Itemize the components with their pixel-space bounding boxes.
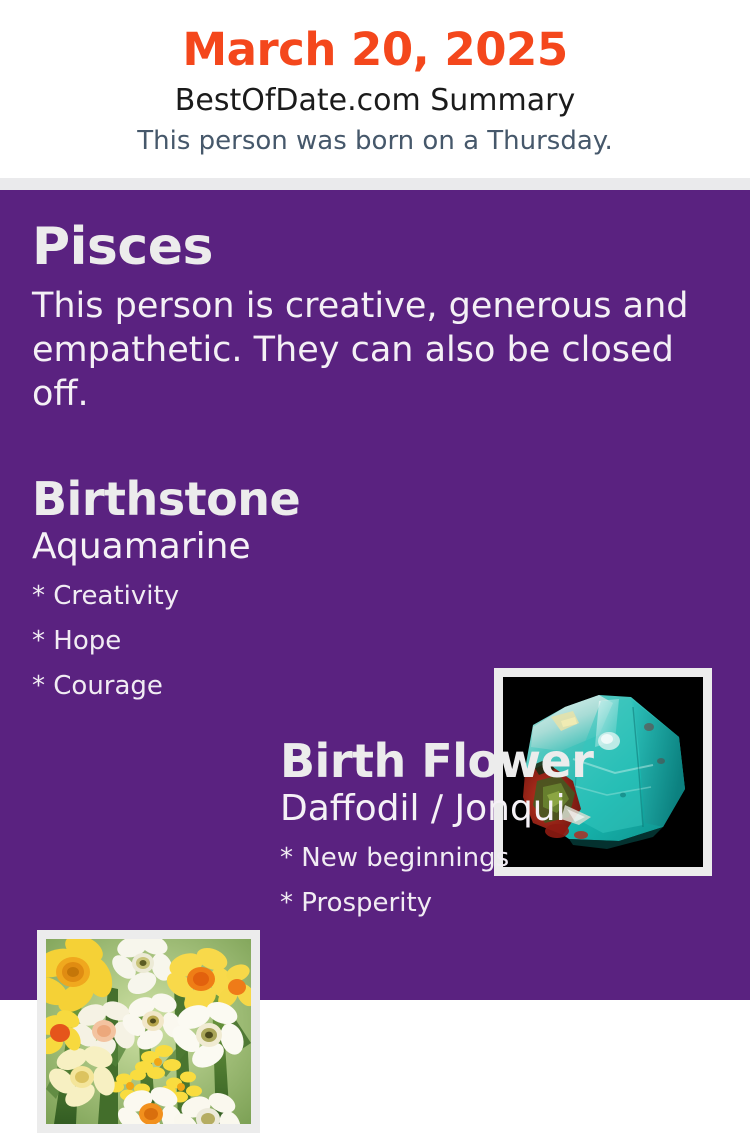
birth-flower-photo-frame (37, 930, 260, 1133)
birthstone-heading: Birthstone (32, 472, 462, 526)
birthstone-attribute-list: * Creativity * Hope * Courage (32, 574, 462, 709)
birth-flower-heading: Birth Flower (280, 734, 730, 788)
zodiac-section: Pisces This person is creative, generous… (32, 218, 722, 416)
weekday-note: This person was born on a Thursday. (0, 123, 750, 159)
daffodil-flowers-icon (46, 939, 251, 1124)
zodiac-sign-title: Pisces (32, 218, 722, 276)
birth-flower-name: Daffodil / Jonqui (280, 788, 730, 830)
list-item: * Prosperity (280, 881, 730, 926)
list-item: * Creativity (32, 574, 462, 619)
daffodil-illustration (46, 939, 251, 1124)
birthstone-section: Birthstone Aquamarine * Creativity * Hop… (32, 472, 462, 709)
page-title-date: March 20, 2025 (0, 22, 750, 78)
summary-panel: Pisces This person is creative, generous… (0, 190, 750, 1000)
header-divider (0, 178, 750, 190)
birth-flower-attribute-list: * New beginnings * Prosperity (280, 836, 730, 926)
birthstone-name: Aquamarine (32, 526, 462, 568)
zodiac-description: This person is creative, generous and em… (32, 284, 702, 416)
list-item: * Hope (32, 619, 462, 664)
birth-flower-section: Birth Flower Daffodil / Jonqui * New beg… (280, 734, 730, 926)
list-item: * New beginnings (280, 836, 730, 881)
list-item: * Courage (32, 664, 462, 709)
page-header: March 20, 2025 BestOfDate.com Summary Th… (0, 0, 750, 178)
site-summary-label: BestOfDate.com Summary (0, 80, 750, 122)
